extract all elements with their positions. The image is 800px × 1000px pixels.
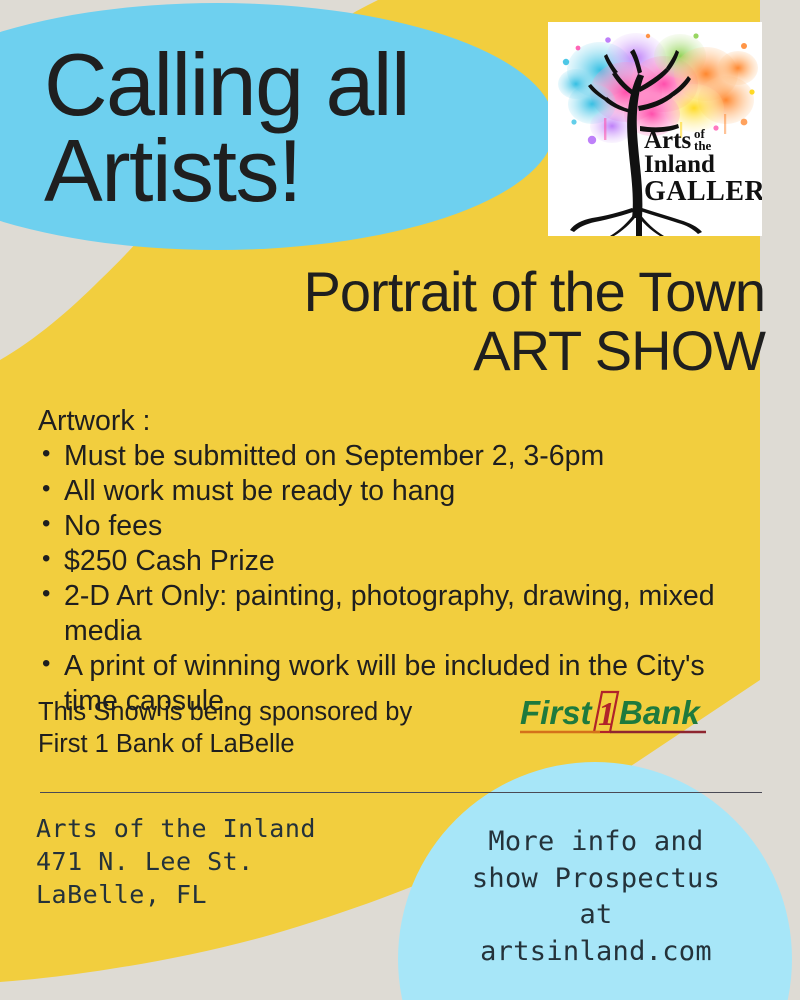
gallery-logo-card: Arts of the Inland GALLERY — [548, 22, 762, 236]
logo-word-arts: Arts — [644, 127, 691, 154]
venue-address: Arts of the Inland 471 N. Lee St. LaBell… — [36, 812, 416, 911]
bank-logo-word-bank: Bank — [619, 694, 701, 731]
show-title-line2: ART SHOW — [40, 321, 765, 380]
logo-word-inland: Inland — [644, 151, 715, 178]
page-title: Calling all Artists! — [44, 42, 514, 214]
logo-word-gallery: GALLERY — [644, 176, 762, 207]
show-title: Portrait of the Town ART SHOW — [40, 262, 765, 381]
show-title-line1: Portrait of the Town — [304, 260, 765, 323]
more-info-text: More info and show Prospectus at artsinl… — [404, 824, 788, 971]
list-item: 2-D Art Only: painting, photography, dra… — [38, 579, 718, 649]
divider-line — [40, 792, 762, 793]
list-item: $250 Cash Prize — [38, 544, 718, 579]
details-heading: Artwork : — [38, 404, 718, 439]
bank-logo-word-one: 1 — [598, 696, 615, 733]
list-item: Must be submitted on September 2, 3-6pm — [38, 439, 718, 474]
artwork-details: Artwork : Must be submitted on September… — [38, 404, 718, 719]
bank-logo-word-first: First — [520, 694, 594, 731]
list-item: All work must be ready to hang — [38, 474, 718, 509]
first-1-bank-logo: First 1 Bank — [518, 688, 718, 740]
details-list: Must be submitted on September 2, 3-6pm … — [38, 439, 718, 719]
list-item: No fees — [38, 509, 718, 544]
sponsor-text: This Show is being sponsored by First 1 … — [38, 696, 508, 760]
poster-canvas: Calling all Artists! — [0, 0, 800, 1000]
